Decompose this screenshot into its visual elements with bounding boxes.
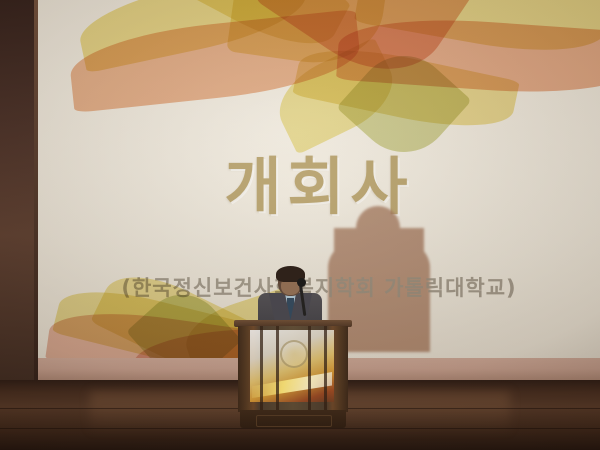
- podium: [236, 320, 350, 428]
- podium-slat: [260, 326, 263, 412]
- podium-slat: [308, 326, 311, 412]
- podium-emblem-icon: [280, 340, 308, 368]
- slide-title: 개회사: [38, 136, 600, 226]
- microphone-icon: [297, 278, 306, 287]
- podium-slat: [324, 326, 327, 412]
- floor-plank: [0, 428, 600, 429]
- podium-base-inset: [256, 415, 332, 427]
- hall-wall-left: [0, 0, 38, 392]
- photo-scene: 개회사 (한국정신보건사회복지학회 가톨릭대학교): [0, 0, 600, 450]
- podium-slat: [276, 326, 279, 412]
